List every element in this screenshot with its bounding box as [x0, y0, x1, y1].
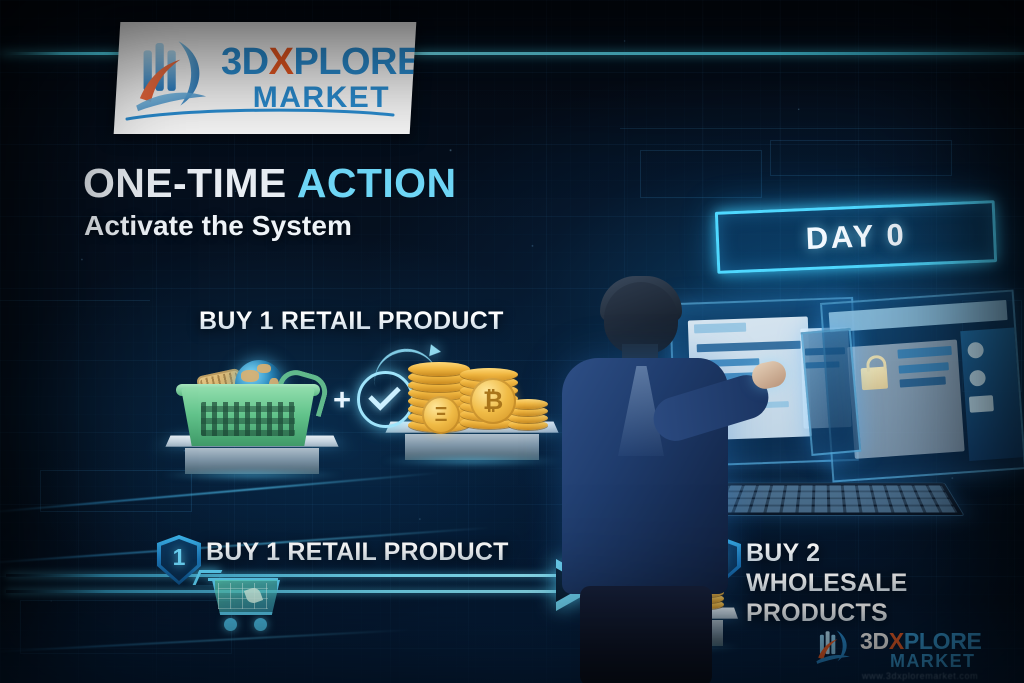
logo-wordmark: 3DXPLORE MARKET: [221, 43, 416, 113]
page-title: ONE-TIME ACTION: [83, 160, 456, 207]
footer-logo-3d: 3D: [860, 628, 889, 654]
logo-x: X: [269, 41, 294, 83]
middle-row-label: BUY 1 RETAIL PRODUCT: [199, 307, 504, 336]
step-2-label: BUY 2 WHOLESALE PRODUCTS: [746, 538, 908, 628]
title-part-cyan: ACTION: [297, 160, 457, 206]
promo-poster: 3DXPLORE MARKET ONE-TIME ACTION Activate…: [0, 0, 1024, 683]
coin-stack-upper: ₿ Ξ: [408, 352, 548, 432]
step-2-label-line1: BUY 2: [746, 538, 908, 568]
title-part-white: ONE-TIME: [83, 160, 297, 206]
step-2-label-line2: WHOLESALE: [746, 568, 908, 598]
footer-logo-mark-icon: [812, 626, 856, 670]
logo-3d: 3D: [221, 41, 269, 83]
shopping-cart-icon: [196, 578, 286, 634]
hud-line: [0, 300, 150, 301]
step-1-shield-badge: 1: [157, 535, 201, 585]
step-1-number: 1: [157, 535, 201, 585]
coin-ethereum-icon: Ξ: [422, 396, 460, 434]
footer-logo-url[interactable]: www.3dxploremarket.com: [862, 671, 978, 681]
footer-logo[interactable]: 3DXPLORE MARKET www.3dxploremarket.com: [812, 624, 1012, 682]
monitor-left: [801, 328, 862, 456]
businessman-illustration: [556, 274, 746, 683]
day-badge: DAY 0: [715, 200, 997, 274]
monitor-bar: [829, 300, 1008, 332]
logo-card[interactable]: 3DXPLORE MARKET: [114, 22, 417, 134]
logo-swoosh-icon: [125, 106, 395, 122]
footer-logo-market: MARKET: [890, 651, 975, 672]
legs: [580, 586, 712, 683]
logo-plore: PLORE: [293, 41, 416, 83]
coin-bitcoin-icon: ₿: [470, 378, 516, 424]
step-1-label: BUY 1 RETAIL PRODUCT: [206, 538, 509, 567]
hud-line: [620, 128, 1024, 129]
page-subtitle: Activate the System: [84, 210, 352, 242]
hud-box: [770, 140, 952, 176]
monitor-chip: [969, 395, 994, 413]
plus-symbol: +: [333, 382, 351, 418]
day-badge-label: DAY 0: [715, 200, 997, 274]
shopping-basket-icon: [173, 358, 323, 450]
hud-box: [640, 150, 762, 198]
